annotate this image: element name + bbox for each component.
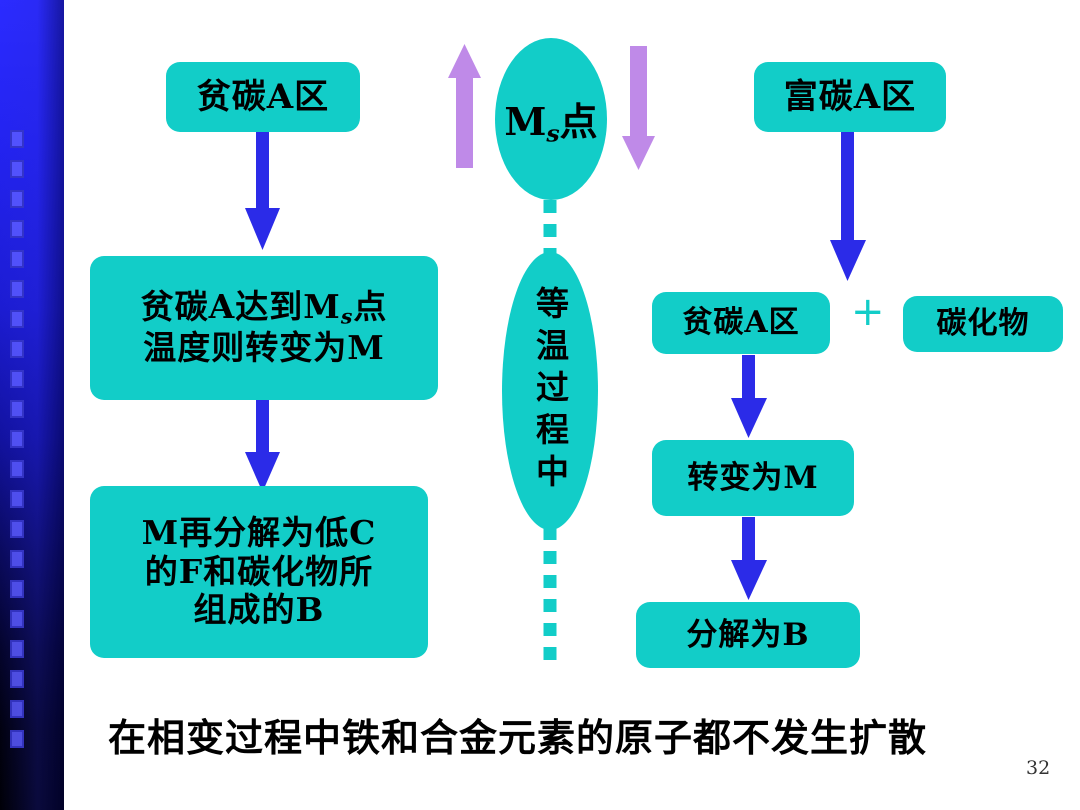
- temperature-down-arrow: [622, 46, 655, 170]
- box-rich-carbon-a-zone[interactable]: 富碳A区: [754, 62, 946, 132]
- sidebar-dash-square: [10, 400, 24, 418]
- box-lean-carbon-reaches-ms[interactable]: 贫碳A达到Ms点 温度则转变为M: [90, 256, 438, 400]
- arrow-right-2: [731, 355, 767, 438]
- sidebar-dash-square: [10, 310, 24, 328]
- box-label-line-2: 的F和碳化物所: [145, 553, 373, 592]
- arrow-right-3: [731, 517, 767, 600]
- sidebar-dash-square: [10, 280, 24, 298]
- sidebar-dash-square: [10, 220, 24, 238]
- slide-canvas: 贫碳A区 贫碳A达到Ms点 温度则转变为M M再分解为低C 的F和碳化物所 组成…: [0, 0, 1080, 810]
- sidebar-dash-square: [10, 610, 24, 628]
- box-lean-carbon-a-zone[interactable]: 贫碳A区: [166, 62, 360, 132]
- box-label: 转变为M: [687, 460, 818, 497]
- plus-icon: +: [851, 292, 885, 332]
- box-transforms-to-m[interactable]: 转变为M: [652, 440, 854, 516]
- box-label-line-3: 组成的B: [194, 591, 325, 630]
- box-label-line-1: M再分解为低C: [142, 514, 377, 553]
- page-number: 32: [1026, 757, 1050, 779]
- sidebar-dash-square: [10, 430, 24, 448]
- box-decomposes-to-b[interactable]: 分解为B: [636, 602, 860, 668]
- sidebar-dash-square: [10, 670, 24, 688]
- sidebar-dash-square: [10, 340, 24, 358]
- ellipse-isothermal-process[interactable]: 等温过程中: [502, 252, 598, 530]
- box-label: 贫碳A区: [197, 77, 329, 117]
- sidebar-dash-square: [10, 580, 24, 598]
- ellipse-ms-point[interactable]: Ms点: [495, 38, 607, 200]
- box-lean-carbon-a-zone-right[interactable]: 贫碳A区: [652, 292, 830, 354]
- sidebar-dash-square: [10, 160, 24, 178]
- box-label: 贫碳A区: [682, 305, 799, 340]
- sidebar-dash-square: [10, 460, 24, 478]
- sidebar-dash-square: [10, 190, 24, 208]
- sidebar-dash-square: [10, 520, 24, 538]
- arrow-right-1: [830, 131, 866, 281]
- slide-caption: 在相变过程中铁和合金元素的原子都不发生扩散: [108, 707, 927, 762]
- box-label-line-2: 温度则转变为M: [143, 329, 385, 368]
- sidebar-dash-square: [10, 640, 24, 658]
- box-label: 富碳A区: [784, 77, 916, 117]
- box-label: 分解为B: [686, 617, 809, 654]
- sidebar-dash-square: [10, 700, 24, 718]
- sidebar-dash-square: [10, 490, 24, 508]
- arrow-left-2: [245, 398, 280, 492]
- sidebar-dash-square: [10, 550, 24, 568]
- box-label-line-1: 贫碳A达到Ms点: [141, 288, 388, 329]
- sidebar-dash-pattern: [10, 130, 24, 770]
- sidebar-dash-square: [10, 250, 24, 268]
- box-label: 碳化物: [937, 306, 1030, 341]
- sidebar-edge-highlight: [64, 0, 68, 810]
- sidebar-dash-square: [10, 130, 24, 148]
- sidebar-dash-square: [10, 730, 24, 748]
- ellipse-label-vertical: 等温过程中: [534, 286, 567, 496]
- sidebar-dash-square: [10, 370, 24, 388]
- ellipse-label: Ms点: [504, 91, 597, 148]
- box-m-decomposes-to-bainite[interactable]: M再分解为低C 的F和碳化物所 组成的B: [90, 486, 428, 658]
- temperature-up-arrow: [448, 44, 481, 168]
- box-carbide[interactable]: 碳化物: [903, 296, 1063, 352]
- arrow-left-1: [245, 128, 280, 250]
